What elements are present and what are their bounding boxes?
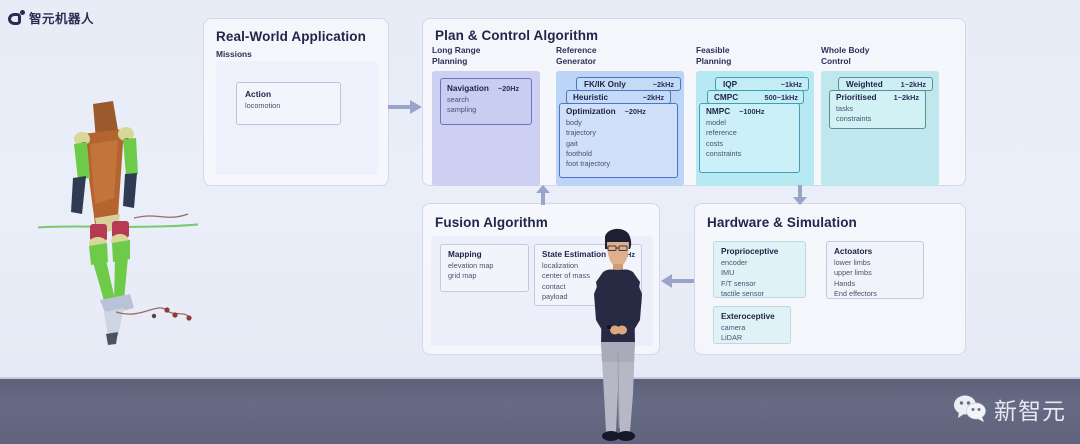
column-reference-generator: Reference Generator FK/IK Only ~2kHz Heu… <box>556 45 684 185</box>
card-fk-ik-only-hz: ~2kHz <box>653 80 674 89</box>
card-prioritised-hz: 1~2kHz <box>894 93 919 102</box>
card-navigation-hz: ~20Hz <box>498 84 519 93</box>
brand-logo-label: 智元机器人 <box>29 8 94 27</box>
card-cmpc-title: CMPC <box>714 93 738 102</box>
card-optimization-title: Optimization <box>566 107 616 116</box>
watermark-label: 新智元 <box>994 392 1066 426</box>
missions-group: Action locomotion <box>216 61 378 175</box>
group-feasible-planning: IQP ~1kHz CMPC 500~1kHz NMPC ~100Hz mode… <box>696 71 814 186</box>
card-nmpc-title: NMPC <box>706 107 730 116</box>
card-heuristic-hz: ~2kHz <box>643 93 664 102</box>
panel-hardware-simulation: Hardware & Simulation Proprioceptive enc… <box>694 203 966 355</box>
card-prioritised: Prioritised 1~2kHz tasks constraints <box>829 90 926 129</box>
column-whole-body-control: Whole Body Control Weighted 1~2kHz Prior… <box>821 45 939 185</box>
card-nmpc: NMPC ~100Hz model reference costs constr… <box>699 103 800 173</box>
card-actuators-title: Actoators <box>834 247 872 256</box>
agibot-logo-icon <box>8 10 24 26</box>
card-fk-ik-only: FK/IK Only ~2kHz <box>576 77 681 91</box>
card-navigation: Navigation ~20Hz search sampling <box>440 78 532 125</box>
card-nmpc-hz: ~100Hz <box>739 107 764 116</box>
card-mapping-items: elevation map grid map <box>441 261 528 282</box>
card-action-title: Action <box>245 89 271 99</box>
card-nmpc-items: model reference costs constraints <box>700 118 799 159</box>
panel-title-hardware-simulation: Hardware & Simulation <box>707 215 857 230</box>
subtitle-feasible-planning: Feasible Planning <box>696 45 731 66</box>
card-weighted: Weighted 1~2kHz <box>838 77 933 91</box>
card-exteroceptive: Exteroceptive camera LiDAR <box>713 306 791 344</box>
card-action: Action locomotion <box>236 82 341 125</box>
card-actuators: Actoators lower limbs upper limbs Hands … <box>826 241 924 299</box>
arrow-application-to-plan <box>388 98 424 116</box>
card-mapping: Mapping elevation map grid map <box>440 244 529 292</box>
subtitle-long-range-planning: Long Range Planning <box>432 45 480 66</box>
panel-title-plan-control: Plan & Control Algorithm <box>435 28 598 43</box>
card-proprioceptive-title: Proprioceptive <box>721 247 778 256</box>
wechat-icon <box>953 394 987 424</box>
card-iqp-title: IQP <box>723 80 737 89</box>
subtitle-whole-body-control: Whole Body Control <box>821 45 869 66</box>
group-reference-generator: FK/IK Only ~2kHz Heuristic ~2kHz Optimiz… <box>556 71 684 186</box>
card-iqp-hz: ~1kHz <box>781 80 802 89</box>
brand-logo: 智元机器人 <box>8 8 94 27</box>
card-optimization-hz: ~20Hz <box>625 107 646 116</box>
card-proprioceptive-items: encoder IMU F/T sensor tactile sensor <box>714 258 805 299</box>
group-whole-body-control: Weighted 1~2kHz Prioritised 1~2kHz tasks… <box>821 71 939 186</box>
card-weighted-title: Weighted <box>846 80 883 89</box>
wechat-watermark: 新智元 <box>953 392 1066 426</box>
arrow-hardware-to-fusion <box>661 272 694 290</box>
card-heuristic-title: Heuristic <box>573 93 608 102</box>
group-long-range-planning: Navigation ~20Hz search sampling <box>432 71 540 186</box>
presenter-person <box>578 222 658 444</box>
stage-floor <box>0 379 1080 444</box>
panel-title-fusion-algorithm: Fusion Algorithm <box>435 215 548 230</box>
column-feasible-planning: Feasible Planning IQP ~1kHz CMPC 500~1kH… <box>696 45 814 185</box>
panel-real-world-application: Real-World Application Missions Action l… <box>203 18 389 186</box>
arrow-plan-to-hardware <box>790 185 810 205</box>
card-exteroceptive-items: camera LiDAR <box>714 323 790 344</box>
card-mapping-title: Mapping <box>448 250 482 259</box>
robot-kinematics-figure <box>38 96 198 346</box>
card-action-items: locomotion <box>237 101 340 111</box>
card-actuators-items: lower limbs upper limbs Hands End effect… <box>827 258 923 299</box>
card-fk-ik-only-title: FK/IK Only <box>584 80 626 89</box>
card-proprioceptive: Proprioceptive encoder IMU F/T sensor ta… <box>713 241 806 298</box>
card-cmpc-hz: 500~1kHz <box>765 93 798 102</box>
column-long-range-planning: Long Range Planning Navigation ~20Hz sea… <box>432 45 540 185</box>
card-navigation-title: Navigation <box>447 84 489 93</box>
subtitle-missions: Missions <box>216 49 252 60</box>
card-heuristic: Heuristic ~2kHz <box>566 90 671 104</box>
card-navigation-items: search sampling <box>441 95 531 116</box>
card-weighted-hz: 1~2kHz <box>901 80 926 89</box>
card-cmpc: CMPC 500~1kHz <box>707 90 804 104</box>
subtitle-reference-generator: Reference Generator <box>556 45 597 66</box>
card-prioritised-title: Prioritised <box>836 93 877 102</box>
panel-title-real-world-application: Real-World Application <box>216 29 366 44</box>
arrow-fusion-to-plan <box>533 185 553 205</box>
card-optimization: Optimization ~20Hz body trajectory gait … <box>559 103 678 178</box>
card-exteroceptive-title: Exteroceptive <box>721 312 775 321</box>
card-optimization-items: body trajectory gait foothold foot traje… <box>560 118 677 170</box>
card-prioritised-items: tasks constraints <box>830 104 925 125</box>
card-iqp: IQP ~1kHz <box>715 77 809 91</box>
